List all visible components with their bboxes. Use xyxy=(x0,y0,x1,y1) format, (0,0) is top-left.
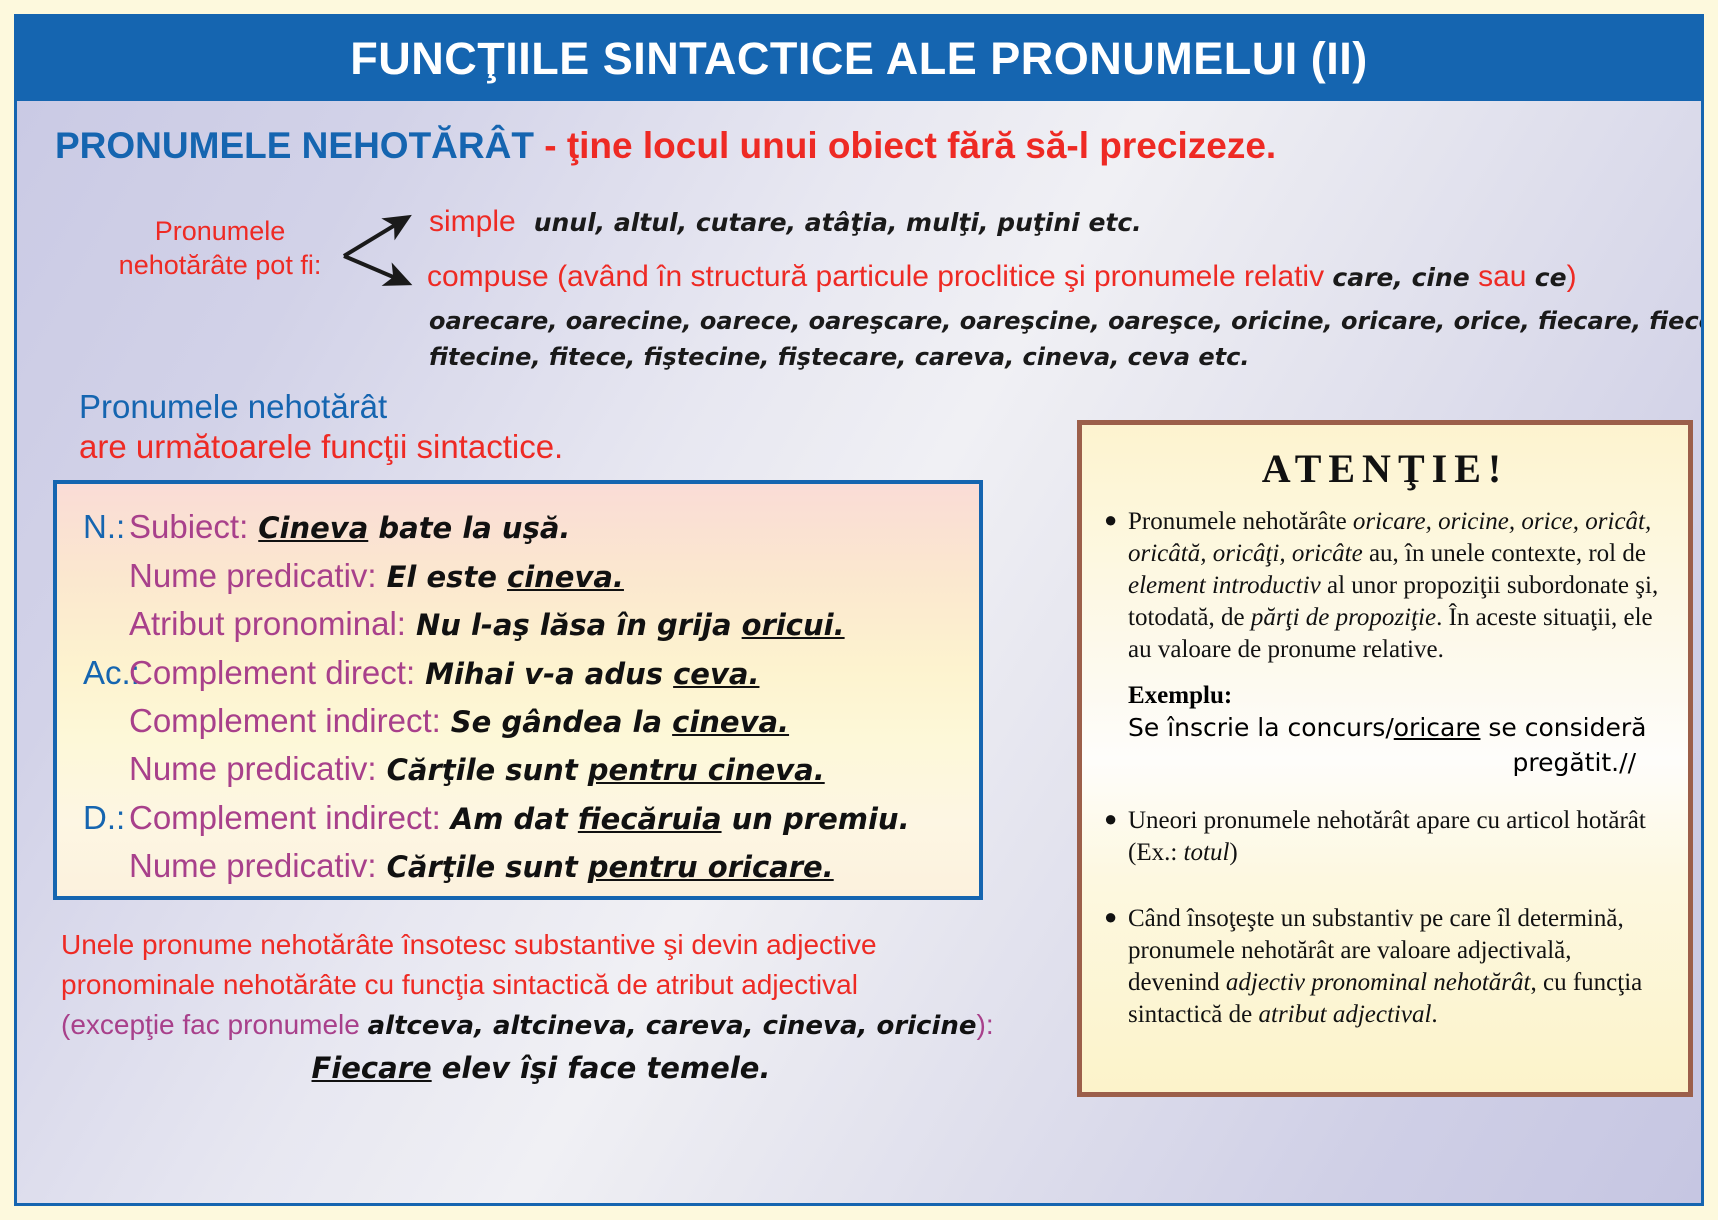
function-example: Cărţile sunt pentru oricare. xyxy=(387,850,834,884)
definition-term: PRONUMELE NEHOTĂRÂT xyxy=(55,125,534,166)
branch-compuse-italic-1: care, cine xyxy=(1332,263,1469,292)
function-example-underline: cineva. xyxy=(507,560,624,594)
definition-rest: - ţine locul unui obiect fără să-l preci… xyxy=(534,125,1276,166)
branch-arrows-icon xyxy=(339,209,439,299)
bullet-italic-term: părţi de propoziţie xyxy=(1251,604,1436,631)
function-example-pre: Cărţile sunt xyxy=(387,850,588,884)
function-row: Complement indirect:Se gândea la cineva. xyxy=(57,702,979,740)
attention-example-label: Exemplu: xyxy=(1128,682,1666,710)
bullet-italic-term: totul xyxy=(1184,839,1230,866)
function-row: N.:Subiect:Cineva bate la uşă. xyxy=(57,508,979,546)
functions-leadin-line1: Pronumele nehotărât xyxy=(79,387,563,427)
bullet-plain-text: . xyxy=(1431,1001,1437,1028)
classification-lead: Pronumele nehotărâte pot fi: xyxy=(105,215,335,283)
function-row: Nume predicativ:Cărţile sunt pentru oric… xyxy=(57,847,979,885)
function-example-pre: Nu l-aş lăsa în grija xyxy=(416,608,742,642)
bullet-italic-term: element introductiv xyxy=(1128,572,1321,599)
functions-leadin-line2: are următoarele funcţii sintactice. xyxy=(79,427,563,467)
function-example-underline: oricui. xyxy=(742,608,845,642)
attention-bullet: ●Când însoţeşte un substantiv pe care îl… xyxy=(1104,903,1666,1031)
attention-bullet-text: Uneori pronumele nehotărât apare cu arti… xyxy=(1128,805,1666,869)
attention-box: ATENŢIE! ●Pronumele nehotărâte oricare, … xyxy=(1077,420,1693,1097)
function-case: D.: xyxy=(57,799,129,837)
function-name: Complement indirect: xyxy=(129,799,441,836)
branch-compuse-label-2: sau xyxy=(1470,260,1535,293)
function-example-underline: ceva. xyxy=(673,657,759,691)
functions-leadin: Pronumele nehotărât are următoarele func… xyxy=(79,387,563,468)
bullet-dot-icon: ● xyxy=(1104,805,1128,869)
attention-example-line1-pre: Se înscrie la concurs xyxy=(1128,713,1385,742)
bottom-note-line3: (excepţie fac pronumele altceva, altcine… xyxy=(61,1005,1021,1045)
function-example-post: bate la uşă. xyxy=(368,511,570,545)
classification-lead-line2: nehotărâte pot fi: xyxy=(105,249,335,283)
attention-example-line2-text: pregătit. xyxy=(1512,748,1619,777)
branch-compuse-italic-2: ce xyxy=(1535,263,1567,292)
bullet-italic-term: atribut adjectival xyxy=(1259,1001,1432,1028)
attention-example: Exemplu: Se înscrie la concurs/oricare s… xyxy=(1128,682,1666,779)
bottom-note-line2: pronominale nehotărâte cu funcţia sintac… xyxy=(61,965,1021,1005)
bottom-example-rest: elev îşi face temele. xyxy=(432,1051,771,1085)
function-example-post: un premiu. xyxy=(722,802,910,836)
attention-bullet-text: Când însoţeşte un substantiv pe care îl … xyxy=(1128,903,1666,1031)
function-example-pre: Mihai v-a adus xyxy=(425,657,673,691)
attention-heading: ATENŢIE! xyxy=(1104,445,1666,492)
attention-example-line1: Se înscrie la concurs/oricare se conside… xyxy=(1128,712,1666,745)
function-name: Complement indirect: xyxy=(129,702,441,739)
attention-example-underline: oricare xyxy=(1394,713,1481,742)
branch-compuse-label-1: compuse (având în structură particule pr… xyxy=(427,260,1332,293)
function-name: Nume predicativ: xyxy=(129,557,377,594)
function-name: Subiect: xyxy=(129,508,248,545)
attention-example-slash-1: / xyxy=(1385,713,1393,742)
function-example-underline: pentru oricare. xyxy=(588,850,834,884)
function-name: Nume predicativ: xyxy=(129,847,377,884)
attention-bullet: ●Uneori pronumele nehotărât apare cu art… xyxy=(1104,805,1666,869)
bullet-dot-icon: ● xyxy=(1104,903,1128,1031)
bullet-plain-text: Pronumele nehotărâte xyxy=(1128,508,1353,535)
attention-bullet: ●Pronumele nehotărâte oricare, oricine, … xyxy=(1104,506,1666,666)
bottom-note-line3-post: ): xyxy=(977,1009,994,1040)
bullet-italic-term: adjectiv pronominal nehotărât xyxy=(1226,969,1531,996)
function-case: N.: xyxy=(57,508,129,546)
attention-example-line1-post: se consideră xyxy=(1480,713,1646,742)
bottom-example: Fiecare elev îşi face temele. xyxy=(61,1051,1021,1085)
function-row: D.:Complement indirect:Am dat fiecăruia … xyxy=(57,799,979,837)
attention-bullets-first: ●Pronumele nehotărâte oricare, oricine, … xyxy=(1104,506,1666,666)
attention-bullet-text: Pronumele nehotărâte oricare, oricine, o… xyxy=(1128,506,1666,666)
title-bar: FUNCŢIILE SINTACTICE ALE PRONUMELUI (II) xyxy=(17,17,1701,101)
function-row: Atribut pronominal:Nu l-aş lăsa în grija… xyxy=(57,605,979,643)
branch-simple-examples: unul, altul, cutare, atâţia, mulţi, puţi… xyxy=(534,208,1142,237)
attention-example-line2: pregătit.// xyxy=(1128,747,1666,780)
function-example: Nu l-aş lăsa în grija oricui. xyxy=(416,608,845,642)
function-example-pre: El este xyxy=(387,560,507,594)
function-example-underline: cineva. xyxy=(672,705,789,739)
function-example-pre: Am dat xyxy=(451,802,578,836)
function-name: Nume predicativ: xyxy=(129,750,377,787)
function-row: Ac.:Complement direct:Mihai v-a adus cev… xyxy=(57,654,979,692)
function-example: Se gândea la cineva. xyxy=(451,705,789,739)
bottom-note: Unele pronume nehotărâte însotesc substa… xyxy=(61,925,1021,1044)
function-example-pre: Cărţile sunt xyxy=(387,753,588,787)
attention-example-slash-2: // xyxy=(1619,748,1636,777)
attention-bullets-rest: ●Uneori pronumele nehotărât apare cu art… xyxy=(1104,805,1666,1031)
classification-lead-line1: Pronumele xyxy=(105,215,335,249)
function-example: El este cineva. xyxy=(387,560,624,594)
function-row: Nume predicativ:El este cineva. xyxy=(57,557,979,595)
function-name: Atribut pronominal: xyxy=(129,605,406,642)
bullet-dot-icon: ● xyxy=(1104,506,1128,666)
function-example-underline: Cineva xyxy=(258,511,368,545)
branch-compuse: compuse (având în structură particule pr… xyxy=(427,260,1577,294)
function-example: Am dat fiecăruia un premiu. xyxy=(451,802,910,836)
bullet-plain-text: ) xyxy=(1229,839,1237,866)
function-row: Nume predicativ:Cărţile sunt pentru cine… xyxy=(57,750,979,788)
function-name: Complement direct: xyxy=(129,654,415,691)
function-example: Cineva bate la uşă. xyxy=(258,511,570,545)
bottom-note-line3-pre: (excepţie fac pronumele xyxy=(61,1009,368,1040)
branch-simple: simpleunul, altul, cutare, atâţia, mulţi… xyxy=(429,205,1142,239)
poster-root: FUNCŢIILE SINTACTICE ALE PRONUMELUI (II)… xyxy=(14,14,1704,1206)
branch-simple-label: simple xyxy=(429,205,516,238)
functions-box: N.:Subiect:Cineva bate la uşă.Nume predi… xyxy=(53,480,983,900)
bottom-note-exceptions: altceva, altcineva, careva, cineva, oric… xyxy=(368,1011,977,1041)
bullet-plain-text: au, în unele contexte, rol de xyxy=(1363,540,1646,567)
function-example-underline: pentru cineva. xyxy=(588,753,825,787)
function-example: Mihai v-a adus ceva. xyxy=(425,657,759,691)
function-example-underline: fiecăruia xyxy=(578,802,722,836)
function-example-pre: Se gândea la xyxy=(451,705,672,739)
function-case: Ac.: xyxy=(57,654,129,692)
bullet-spacer xyxy=(1104,875,1666,903)
compuse-examples-line2: fitecine, fitece, fiştecine, fiştecare, … xyxy=(429,343,1249,371)
branch-compuse-label-3: ) xyxy=(1567,260,1577,293)
bottom-note-line1: Unele pronume nehotărâte însotesc substa… xyxy=(61,925,1021,965)
compuse-examples-line1: oarecare, oarecine, oarece, oareşcare, o… xyxy=(429,307,1704,335)
bottom-example-underline: Fiecare xyxy=(312,1051,432,1085)
page-title: FUNCŢIILE SINTACTICE ALE PRONUMELUI (II) xyxy=(350,33,1367,85)
definition-line: PRONUMELE NEHOTĂRÂT - ţine locul unui ob… xyxy=(55,125,1276,167)
function-example: Cărţile sunt pentru cineva. xyxy=(387,753,825,787)
